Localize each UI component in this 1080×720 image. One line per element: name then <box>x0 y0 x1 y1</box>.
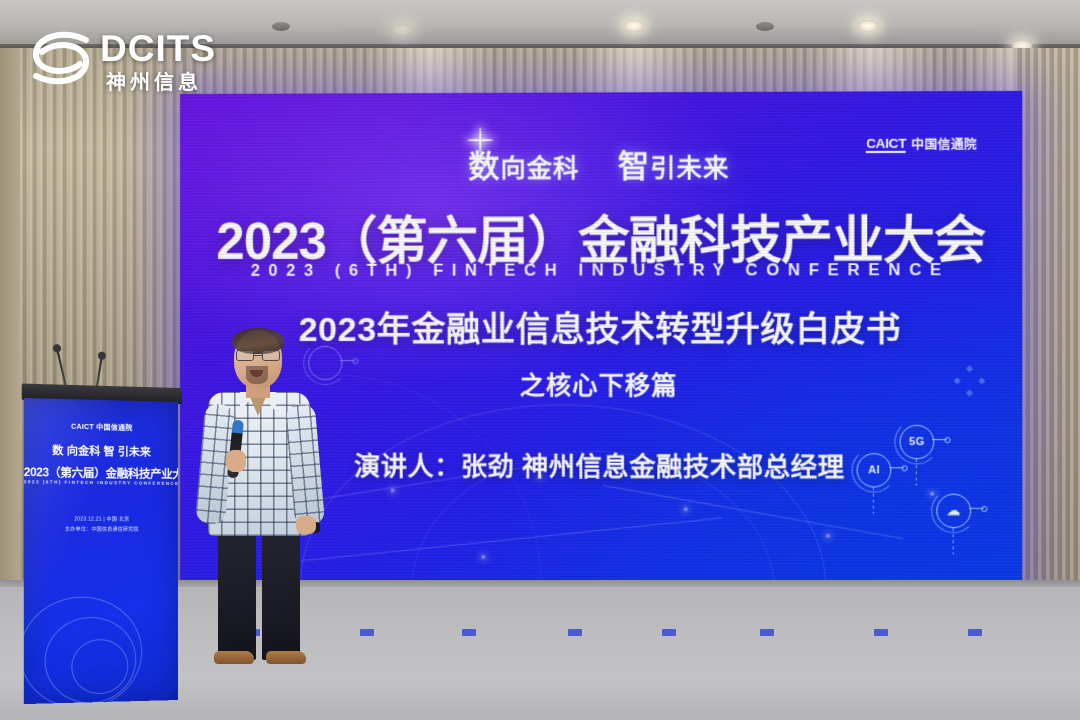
slogan-tail-1: 向金科 <box>500 155 579 183</box>
person-shoe-left <box>214 651 254 664</box>
event-slogan: 数向金科 智引未来 <box>180 139 1022 187</box>
ceiling-vent <box>272 22 290 31</box>
slogan-char-zhi: 智 <box>618 149 650 184</box>
badge-ai-label: AI <box>857 453 892 487</box>
podium-caict-logo: CAICT 中国信通院 <box>24 421 178 434</box>
badge-5g-label: 5G <box>900 425 935 459</box>
dcits-watermark: DCITS 神州信息 <box>22 18 252 90</box>
podium-conference-title: 2023（第六届）金融科技产业大会 <box>24 464 178 482</box>
slogan-tail-2: 引未来 <box>650 154 729 182</box>
spotlight <box>858 20 878 32</box>
dcits-brand-en: DCITS <box>100 28 216 70</box>
badge-5g: 5G <box>900 425 947 472</box>
floor-marker <box>968 629 982 636</box>
podium-front-panel: CAICT 中国信通院 数 向金科 智 引未来 2023（第六届）金融科技产业大… <box>24 398 178 704</box>
podium-date-location: 2023.12.21 | 中国·北京 <box>24 515 178 523</box>
ceiling-vent <box>756 22 774 31</box>
slogan-char-shu: 数 <box>468 149 500 184</box>
podium-decoration <box>30 586 172 700</box>
person-leg-left <box>218 534 256 660</box>
floor-marker <box>568 629 582 636</box>
floor-marker <box>874 629 888 636</box>
floor-marker <box>360 629 374 636</box>
conference-stage-photo: CAICT 中国信通院 数向金科 智引未来 2023（第六届）金融科技产业大会 … <box>0 0 1080 720</box>
badge-ai: AI <box>857 453 904 500</box>
person-shoe-right <box>266 651 306 664</box>
spotlight <box>392 24 412 36</box>
floor-marker <box>662 629 676 636</box>
dcits-swirl-logo-icon <box>28 30 94 86</box>
podium-slogan: 数 向金科 智 引未来 <box>24 441 178 460</box>
person-leg-right <box>262 534 300 660</box>
speaker-person <box>196 330 320 670</box>
spotlight <box>624 20 644 32</box>
floor-marker <box>462 629 476 636</box>
speaker-podium: CAICT 中国信通院 数 向金科 智 引未来 2023（第六届）金融科技产业大… <box>11 396 178 705</box>
glasses-icon <box>236 350 280 361</box>
badge-cloud: ☁ <box>936 494 983 541</box>
podium-host-line: 主办单位：中国信息通信研究院 <box>24 525 178 533</box>
person-hand-right <box>296 516 316 534</box>
person-legs <box>216 534 302 662</box>
conference-title-en: 2023 (6TH) FINTECH INDUSTRY CONFERENCE <box>180 261 1022 281</box>
dcits-brand-cn: 神州信息 <box>106 66 202 95</box>
badge-cloud-label: ☁ <box>936 494 971 528</box>
floor-marker <box>760 629 774 636</box>
podium-conference-title-en: 2023 (6TH) FINTECH INDUSTRY CONFERENCE <box>24 479 178 486</box>
person-hand-left <box>226 450 246 472</box>
